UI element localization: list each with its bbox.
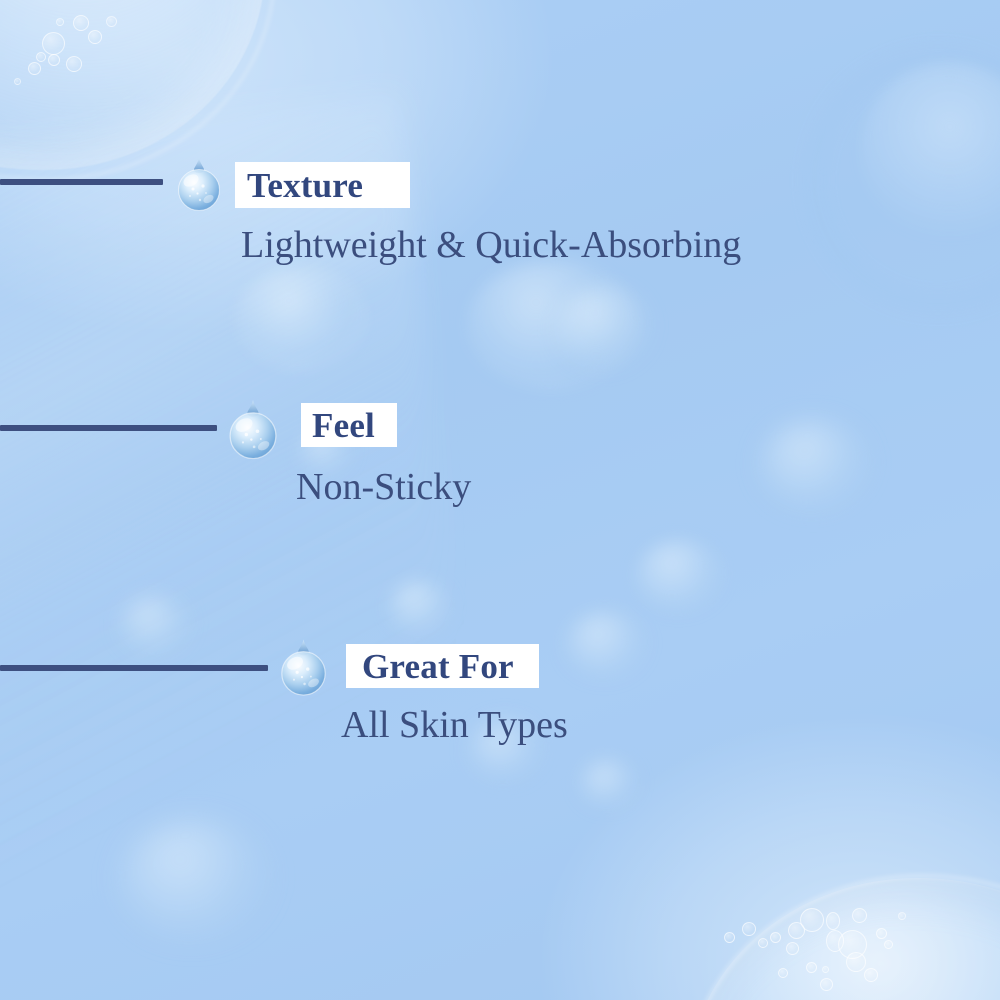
micro-bubble-icon <box>742 922 756 936</box>
leader-line <box>0 425 217 431</box>
micro-bubble-icon <box>876 928 887 939</box>
micro-bubble-icon <box>42 32 65 55</box>
feature-label-box: Texture <box>235 162 410 208</box>
soft-bubble-icon <box>760 420 870 510</box>
feature-label-box: Feel <box>301 403 397 447</box>
micro-bubble-icon <box>724 932 735 943</box>
feature-description-texture: Lightweight & Quick-Absorbing <box>241 226 741 264</box>
feature-description-great-for: All Skin Types <box>341 706 568 744</box>
soft-bubble-icon <box>388 580 452 636</box>
soft-bubble-icon <box>120 596 190 654</box>
micro-bubble-icon <box>826 912 840 930</box>
leader-line <box>0 665 268 671</box>
micro-bubble-icon <box>14 78 21 85</box>
micro-bubble-icon <box>864 968 878 982</box>
feature-label-texture: Texture <box>247 168 363 203</box>
micro-bubble-icon <box>826 930 844 952</box>
feature-label-feel: Feel <box>312 408 375 443</box>
soft-bubble-icon <box>580 760 638 808</box>
micro-bubble-icon <box>106 16 117 27</box>
micro-bubble-icon <box>846 952 866 972</box>
soft-bubble-icon <box>636 540 724 612</box>
micro-bubble-icon <box>758 938 768 948</box>
micro-bubble-icon <box>88 30 102 44</box>
micro-bubble-icon <box>778 968 788 978</box>
water-droplet-icon <box>173 155 225 213</box>
micro-bubble-icon <box>28 62 41 75</box>
micro-bubble-icon <box>48 54 60 66</box>
micro-bubble-icon <box>822 966 829 973</box>
micro-bubble-icon <box>73 15 89 31</box>
soft-bubble-icon <box>238 268 364 368</box>
micro-bubble-icon <box>820 978 833 991</box>
micro-bubble-icon <box>786 942 799 955</box>
water-droplet-icon <box>224 396 282 462</box>
leader-line <box>0 179 163 185</box>
micro-bubble-icon <box>852 908 867 923</box>
product-feature-callout-graphic: Texture Lightweight & Quick-Absorbing <box>0 0 1000 1000</box>
soft-bubble-icon <box>556 286 652 370</box>
water-droplet-icon <box>276 636 331 698</box>
micro-bubble-icon <box>56 18 64 26</box>
micro-bubble-icon <box>884 940 893 949</box>
micro-bubble-icon <box>66 56 82 72</box>
feature-description-feel: Non-Sticky <box>296 468 471 506</box>
micro-bubble-icon <box>806 962 817 973</box>
micro-bubble-icon <box>788 922 805 939</box>
micro-bubble-icon <box>36 52 46 62</box>
micro-bubble-icon <box>898 912 906 920</box>
soft-bubble-icon <box>120 820 270 940</box>
micro-bubble-icon <box>770 932 781 943</box>
feature-label-great-for: Great For <box>362 649 514 684</box>
feature-label-box: Great For <box>346 644 539 688</box>
soft-bubble-icon <box>566 612 646 678</box>
